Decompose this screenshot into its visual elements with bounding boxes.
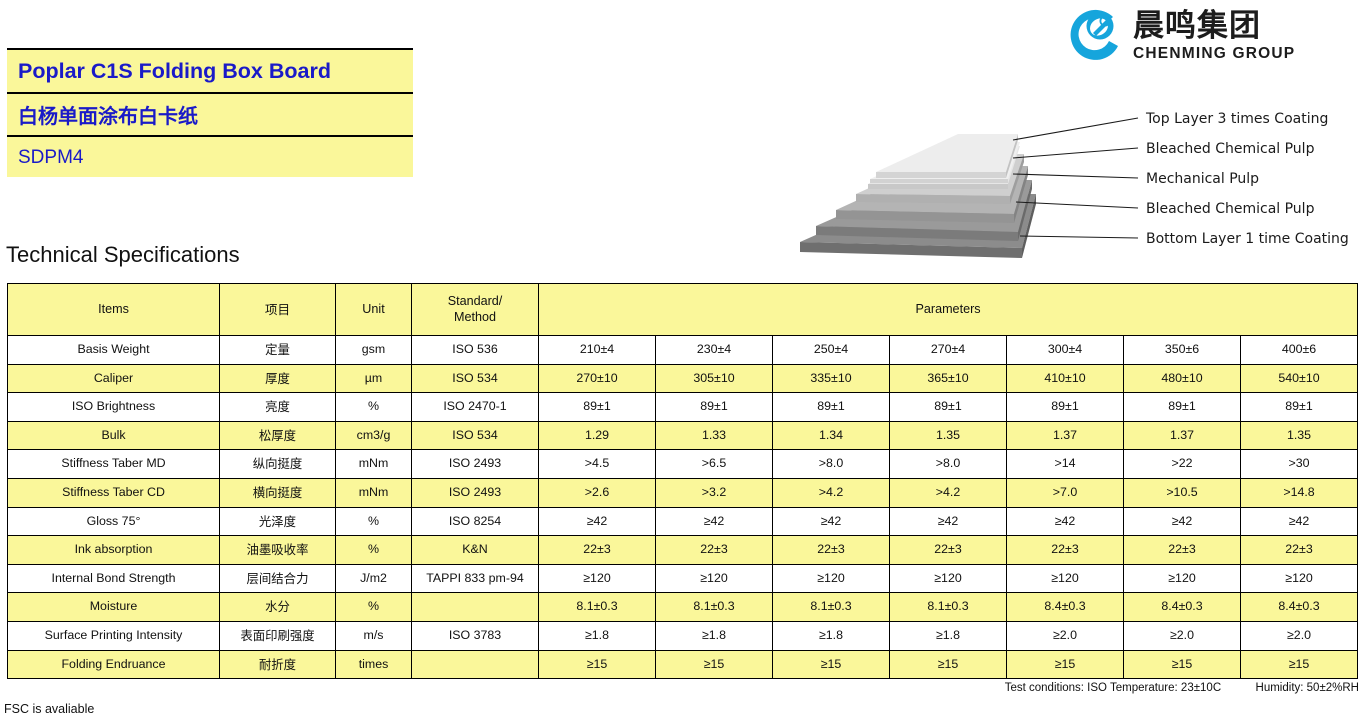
cell-parameter-4: >4.2 [890,478,1007,507]
cell-parameter-6: 89±1 [1124,393,1241,422]
technical-specifications-table: Items 项目 Unit Standard/ Method Parameter… [7,283,1358,679]
table-row: Moisture水分%8.1±0.38.1±0.38.1±0.38.1±0.38… [8,593,1358,622]
cell-parameter-2: ≥120 [656,564,773,593]
cell-item-cn: 耐折度 [220,650,336,679]
cell-parameter-7: 540±10 [1241,364,1358,393]
cell-parameter-1: 270±10 [539,364,656,393]
standard-line-1: Standard/ [448,294,503,308]
cell-parameter-2: ≥42 [656,507,773,536]
cell-item-en: Moisture [8,593,220,622]
logo-wordmark: 晨鸣集团 CHENMING GROUP [1133,10,1295,62]
product-title-chinese: 白杨单面涂布白卡纸 [7,94,413,137]
cell-item-cn: 松厚度 [220,421,336,450]
cell-parameter-1: 210±4 [539,336,656,365]
cell-parameter-6: ≥2.0 [1124,621,1241,650]
cell-item-cn: 亮度 [220,393,336,422]
cell-parameter-1: ≥1.8 [539,621,656,650]
cell-parameter-1: >4.5 [539,450,656,479]
cell-parameter-5: 410±10 [1007,364,1124,393]
cell-parameter-7: ≥2.0 [1241,621,1358,650]
product-title-block: Poplar C1S Folding Box Board 白杨单面涂布白卡纸 S… [7,48,413,177]
cell-unit: times [336,650,412,679]
board-layer-1 [876,134,1018,178]
table-row: Stiffness Taber CD横向挺度mNmISO 2493>2.6>3.… [8,478,1358,507]
cell-parameter-5: >7.0 [1007,478,1124,507]
cell-item-cn: 油墨吸收率 [220,536,336,565]
cell-item-en: Ink absorption [8,536,220,565]
cell-unit: % [336,507,412,536]
cell-parameter-4: 22±3 [890,536,1007,565]
table-row: Ink absorption油墨吸收率%K&N22±322±322±322±32… [8,536,1358,565]
cell-parameter-4: >8.0 [890,450,1007,479]
cell-parameter-5: 22±3 [1007,536,1124,565]
cell-parameter-1: 22±3 [539,536,656,565]
cell-parameter-7: 8.4±0.3 [1241,593,1358,622]
column-header-parameters: Parameters [539,284,1358,336]
cell-parameter-2: 230±4 [656,336,773,365]
cell-standard-method: ISO 2493 [412,478,539,507]
cell-standard-method: ISO 536 [412,336,539,365]
cell-parameter-2: ≥15 [656,650,773,679]
cell-parameter-2: 305±10 [656,364,773,393]
cell-parameter-5: 300±4 [1007,336,1124,365]
table-row: Basis Weight定量gsmISO 536210±4230±4250±42… [8,336,1358,365]
cell-parameter-2: 89±1 [656,393,773,422]
cell-parameter-5: ≥2.0 [1007,621,1124,650]
column-header-items: Items [8,284,220,336]
cell-standard-method: ISO 534 [412,421,539,450]
cell-parameter-3: 335±10 [773,364,890,393]
layer-label-5: Bottom Layer 1 time Coating [1146,231,1349,247]
cell-item-cn: 定量 [220,336,336,365]
cell-unit: % [336,593,412,622]
cell-parameter-1: ≥15 [539,650,656,679]
product-title-english: Poplar C1S Folding Box Board [7,50,413,94]
cell-parameter-2: >3.2 [656,478,773,507]
cell-parameter-6: ≥42 [1124,507,1241,536]
cell-item-cn: 水分 [220,593,336,622]
cell-standard-method: TAPPI 833 pm-94 [412,564,539,593]
leader-line-2 [1013,148,1138,158]
cell-parameter-6: 480±10 [1124,364,1241,393]
board-layer-diagram: Top Layer 3 times Coating Bleached Chemi… [780,96,1365,258]
cell-standard-method: ISO 8254 [412,507,539,536]
cell-item-cn: 表面印刷强度 [220,621,336,650]
cell-parameter-1: >2.6 [539,478,656,507]
cell-parameter-4: ≥42 [890,507,1007,536]
cell-parameter-3: 89±1 [773,393,890,422]
table-body: Basis Weight定量gsmISO 536210±4230±4250±42… [8,336,1358,679]
cell-standard-method: ISO 2470-1 [412,393,539,422]
company-logo: 晨鸣集团 CHENMING GROUP [1057,4,1357,68]
cell-item-en: ISO Brightness [8,393,220,422]
test-conditions-note: Test conditions: ISO Temperature: 23±10C… [1005,682,1359,694]
cell-standard-method: ISO 2493 [412,450,539,479]
cell-parameter-4: 1.35 [890,421,1007,450]
page-title: Technical Specifications [6,242,240,268]
cell-standard-method: ISO 3783 [412,621,539,650]
cell-parameter-1: 8.1±0.3 [539,593,656,622]
cell-parameter-6: 1.37 [1124,421,1241,450]
cell-parameter-2: 22±3 [656,536,773,565]
cell-unit: µm [336,364,412,393]
product-datasheet-page: 晨鸣集团 CHENMING GROUP Poplar C1S Folding B… [0,0,1365,725]
cell-parameter-1: 1.29 [539,421,656,450]
cell-parameter-7: ≥120 [1241,564,1358,593]
cell-item-cn: 层间结合力 [220,564,336,593]
cell-parameter-6: ≥15 [1124,650,1241,679]
table-row: Surface Printing Intensity表面印刷强度m/sISO 3… [8,621,1358,650]
cell-item-en: Gloss 75° [8,507,220,536]
cell-item-cn: 横向挺度 [220,478,336,507]
cell-item-en: Basis Weight [8,336,220,365]
product-code: SDPM4 [7,137,413,179]
leader-line-1 [1013,118,1138,140]
column-header-items-cn: 项目 [220,284,336,336]
cell-parameter-3: ≥1.8 [773,621,890,650]
cell-parameter-1: ≥42 [539,507,656,536]
leader-line-3 [1013,174,1138,178]
column-header-standard-method: Standard/ Method [412,284,539,336]
cell-parameter-2: >6.5 [656,450,773,479]
cell-parameter-3: 250±4 [773,336,890,365]
cell-parameter-6: >10.5 [1124,478,1241,507]
cell-parameter-3: >8.0 [773,450,890,479]
cell-item-en: Folding Endruance [8,650,220,679]
humidity-text: Humidity: 50±2%RH [1256,682,1359,694]
cell-parameter-4: 270±4 [890,336,1007,365]
cell-parameter-4: 89±1 [890,393,1007,422]
cell-parameter-6: 22±3 [1124,536,1241,565]
cell-parameter-2: 1.33 [656,421,773,450]
leader-line-5 [1020,236,1138,238]
cell-parameter-4: 8.1±0.3 [890,593,1007,622]
cell-parameter-5: ≥120 [1007,564,1124,593]
table-row: Stiffness Taber MD纵向挺度mNmISO 2493>4.5>6.… [8,450,1358,479]
cell-parameter-7: 22±3 [1241,536,1358,565]
cell-parameter-3: >4.2 [773,478,890,507]
table-row: Folding Endruance耐折度times≥15≥15≥15≥15≥15… [8,650,1358,679]
cell-item-cn: 厚度 [220,364,336,393]
cell-parameter-4: ≥120 [890,564,1007,593]
standard-line-2: Method [454,310,496,324]
cell-standard-method: K&N [412,536,539,565]
cell-parameter-7: ≥15 [1241,650,1358,679]
cell-unit: mNm [336,478,412,507]
cell-parameter-4: ≥1.8 [890,621,1007,650]
cell-item-en: Caliper [8,364,220,393]
cell-item-en: Bulk [8,421,220,450]
cell-standard-method [412,650,539,679]
cell-parameter-7: 400±6 [1241,336,1358,365]
cell-parameter-6: 350±6 [1124,336,1241,365]
logo-english-name: CHENMING GROUP [1133,45,1295,62]
cell-parameter-1: 89±1 [539,393,656,422]
fsc-note: FSC is avaliable [4,702,94,716]
cell-parameter-5: 8.4±0.3 [1007,593,1124,622]
cell-parameter-7: >14.8 [1241,478,1358,507]
cell-item-en: Surface Printing Intensity [8,621,220,650]
cell-parameter-5: 89±1 [1007,393,1124,422]
layer-label-2: Bleached Chemical Pulp [1146,141,1315,157]
cell-parameter-7: >30 [1241,450,1358,479]
cell-unit: gsm [336,336,412,365]
cell-item-cn: 纵向挺度 [220,450,336,479]
cell-parameter-3: 8.1±0.3 [773,593,890,622]
cell-parameter-5: 1.37 [1007,421,1124,450]
cell-unit: cm3/g [336,421,412,450]
layer-label-1: Top Layer 3 times Coating [1145,111,1328,127]
table-row: Caliper厚度µmISO 534270±10305±10335±10365±… [8,364,1358,393]
cell-parameter-2: ≥1.8 [656,621,773,650]
cell-parameter-3: ≥42 [773,507,890,536]
layer-label-4: Bleached Chemical Pulp [1146,201,1315,217]
cell-item-en: Stiffness Taber MD [8,450,220,479]
layer-label-3: Mechanical Pulp [1146,171,1259,187]
cell-parameter-3: ≥15 [773,650,890,679]
cell-unit: % [336,536,412,565]
logo-chinese-name: 晨鸣集团 [1133,10,1295,43]
cell-standard-method: ISO 534 [412,364,539,393]
table-row: ISO Brightness亮度%ISO 2470-189±189±189±18… [8,393,1358,422]
cell-parameter-4: 365±10 [890,364,1007,393]
cell-parameter-6: ≥120 [1124,564,1241,593]
table-row: Internal Bond Strength层间结合力J/m2TAPPI 833… [8,564,1358,593]
cell-parameter-3: 1.34 [773,421,890,450]
cell-parameter-5: ≥42 [1007,507,1124,536]
cell-item-en: Stiffness Taber CD [8,478,220,507]
cell-item-en: Internal Bond Strength [8,564,220,593]
cell-parameter-1: ≥120 [539,564,656,593]
table-row: Gloss 75°光泽度%ISO 8254≥42≥42≥42≥42≥42≥42≥… [8,507,1358,536]
cell-standard-method [412,593,539,622]
chenming-circle-swoosh-icon [1057,6,1129,66]
cell-unit: % [336,393,412,422]
cell-parameter-7: ≥42 [1241,507,1358,536]
cell-parameter-7: 89±1 [1241,393,1358,422]
test-conditions-text: Test conditions: ISO Temperature: 23±10C [1005,682,1221,694]
cell-parameter-7: 1.35 [1241,421,1358,450]
cell-unit: mNm [336,450,412,479]
table-header-row: Items 项目 Unit Standard/ Method Parameter… [8,284,1358,336]
cell-parameter-6: 8.4±0.3 [1124,593,1241,622]
cell-parameter-3: 22±3 [773,536,890,565]
cell-parameter-3: ≥120 [773,564,890,593]
cell-parameter-5: ≥15 [1007,650,1124,679]
column-header-unit: Unit [336,284,412,336]
cell-parameter-2: 8.1±0.3 [656,593,773,622]
cell-parameter-6: >22 [1124,450,1241,479]
table-row: Bulk松厚度cm3/gISO 5341.291.331.341.351.371… [8,421,1358,450]
cell-parameter-4: ≥15 [890,650,1007,679]
cell-item-cn: 光泽度 [220,507,336,536]
cell-parameter-5: >14 [1007,450,1124,479]
cell-unit: J/m2 [336,564,412,593]
cell-unit: m/s [336,621,412,650]
